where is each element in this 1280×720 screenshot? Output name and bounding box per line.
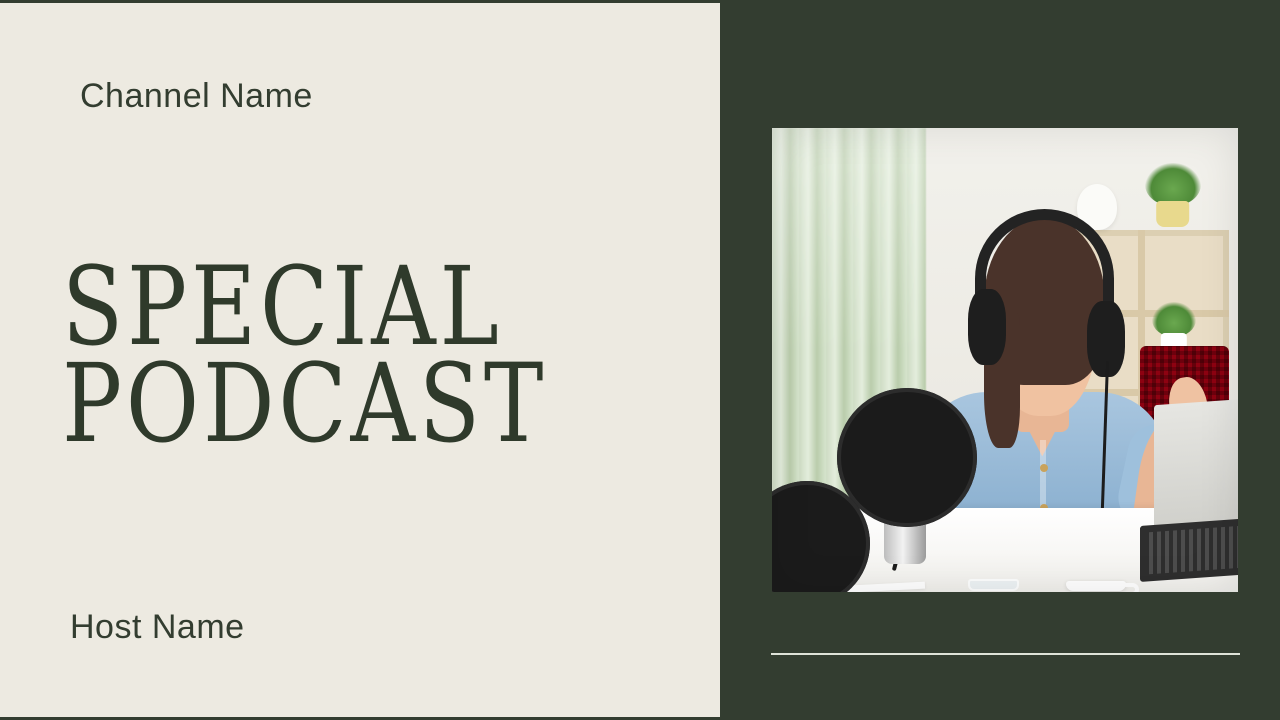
right-image-panel xyxy=(720,3,1280,717)
headphone-cup-left xyxy=(968,289,1006,365)
coffee-mug xyxy=(1066,581,1127,591)
divider-line xyxy=(771,653,1240,655)
title-line-podcast: PODCAST xyxy=(62,355,547,455)
host-name-label: Host Name xyxy=(70,608,245,647)
channel-name-label: Channel Name xyxy=(80,77,313,116)
host-photo xyxy=(772,128,1238,592)
water-glass xyxy=(968,579,1019,591)
laptop-screen xyxy=(1154,399,1238,535)
laptop-keyboard xyxy=(1140,519,1238,582)
left-text-panel: Channel Name SPECIAL PODCAST Host Name xyxy=(0,3,720,717)
podcast-cover-slide: Channel Name SPECIAL PODCAST Host Name xyxy=(0,0,1280,720)
podcast-studio-photo xyxy=(772,128,1238,592)
page-title: SPECIAL PODCAST xyxy=(62,258,562,439)
